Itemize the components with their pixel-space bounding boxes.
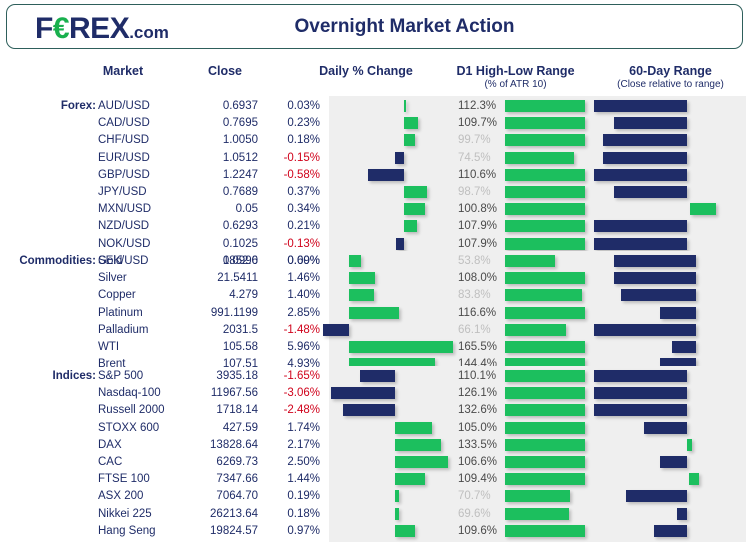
bar-d1-range [505,220,585,232]
row-d1-label: 105.0% [458,421,504,435]
bar-daily-change [395,525,415,537]
bar-d1-range [505,272,585,284]
bar-d1-range [505,456,585,468]
row-close-value: 2031.5 [168,323,258,337]
bar-60day-range [594,370,687,382]
column-subheader-d1-range: (% of ATR 10) [443,79,588,90]
column-header-60day-range: 60-Day Range [598,64,743,78]
row-d1-label: 133.5% [458,438,504,452]
row-close-value: 1852.6 [168,254,258,268]
panel-daily-change-0 [329,96,459,272]
row-d1-label: 107.9% [458,237,504,251]
row-change-value: -1.65% [250,369,320,383]
bar-60day-range [689,473,699,485]
bar-60day-range [660,307,696,319]
column-header-d1-range: D1 High-Low Range [443,64,588,78]
row-close-value: 6269.73 [168,455,258,469]
row-change-value: -3.06% [250,386,320,400]
row-d1-label: 110.6% [458,168,504,182]
header-bar: F€REX.com Overnight Market Action [6,4,743,49]
bar-daily-change [349,272,375,284]
bar-d1-range [505,370,585,382]
bar-d1-range [505,404,585,416]
group-label-forex: Forex: [10,99,96,113]
row-d1-label: 126.1% [458,386,504,400]
row-close-value: 1718.14 [168,403,258,417]
bar-daily-change [349,289,374,301]
row-change-value: 1.46% [250,271,320,285]
bar-d1-range [505,341,585,353]
row-market-name: Palladium [98,323,149,337]
row-market-name: S&P 500 [98,369,143,383]
bar-d1-range [505,238,585,250]
row-change-value: 2.85% [250,306,320,320]
row-market-name: Gold [98,254,122,268]
row-market-name: Russell 2000 [98,403,164,417]
row-close-value: 4.279 [168,288,258,302]
bar-d1-range [505,490,570,502]
bar-d1-range [505,186,585,198]
row-close-value: 427.59 [168,421,258,435]
row-market-name: ASX 200 [98,489,143,503]
row-close-value: 0.6937 [168,99,258,113]
row-close-value: 7347.66 [168,472,258,486]
row-d1-label: 110.1% [458,369,504,383]
row-market-name: FTSE 100 [98,472,150,486]
row-market-name: STOXX 600 [98,421,159,435]
column-header-close: Close [190,64,260,78]
row-change-value: 0.34% [250,202,320,216]
bar-d1-range [505,324,566,336]
row-change-value: 0.19% [250,489,320,503]
row-close-value: 11967.56 [168,386,258,400]
row-market-name: GBP/USD [98,168,150,182]
bar-60day-range [690,203,716,215]
bar-60day-range [614,272,697,284]
bar-60day-range [594,324,696,336]
row-close-value: 105.58 [168,340,258,354]
row-change-value: 1.74% [250,421,320,435]
row-d1-label: 108.0% [458,271,504,285]
row-close-value: 1.0050 [168,133,258,147]
row-d1-label: 99.7% [458,133,504,147]
row-change-value: -1.48% [250,323,320,337]
bar-60day-range [614,186,688,198]
row-change-value: -0.13% [250,237,320,251]
row-close-value: 13828.64 [168,438,258,452]
row-market-name: Hang Seng [98,524,156,538]
bar-60day-range [614,255,697,267]
row-market-name: JPY/USD [98,185,147,199]
bar-daily-change [349,255,361,267]
row-change-value: 0.21% [250,219,320,233]
row-d1-label: 98.7% [458,185,504,199]
bar-60day-range [626,490,688,502]
row-d1-label: 74.5% [458,151,504,165]
row-close-value: 0.05 [168,202,258,216]
bar-daily-change [404,186,427,198]
bar-60day-range [594,100,687,112]
row-d1-label: 109.7% [458,116,504,130]
row-d1-label: 109.6% [458,524,504,538]
bar-daily-change [404,203,425,215]
row-change-value: 0.69% [250,254,320,268]
bar-60day-range [687,439,692,451]
bar-daily-change [395,152,404,164]
row-market-name: Platinum [98,306,143,320]
row-market-name: AUD/USD [98,99,150,113]
row-d1-label: 66.1% [458,323,504,337]
row-market-name: CAC [98,455,122,469]
row-change-value: -2.48% [250,403,320,417]
row-d1-label: 53.8% [458,254,504,268]
row-market-name: WTI [98,340,119,354]
row-close-value: 21.5411 [168,271,258,285]
bar-daily-change [368,169,404,181]
bar-daily-change [395,490,399,502]
row-market-name: CHF/USD [98,133,149,147]
bar-daily-change [395,439,441,451]
row-market-name: EUR/USD [98,151,150,165]
bar-d1-range [505,307,585,319]
bar-60day-range [603,134,687,146]
bar-d1-range [505,255,555,267]
bar-d1-range [505,525,585,537]
row-d1-label: 107.9% [458,219,504,233]
row-close-value: 0.6293 [168,219,258,233]
bar-d1-range [505,508,569,520]
row-close-value: 0.1025 [168,237,258,251]
row-d1-label: 100.8% [458,202,504,216]
row-close-value: 3935.18 [168,369,258,383]
page-title: Overnight Market Action [7,16,742,38]
group-label-indices: Indices: [10,369,96,383]
row-close-value: 991.1199 [168,306,258,320]
row-market-name: Copper [98,288,136,302]
row-change-value: 1.44% [250,472,320,486]
row-change-value: 0.97% [250,524,320,538]
bar-d1-range [505,117,585,129]
row-market-name: Nikkei 225 [98,507,152,521]
bar-d1-range [505,439,585,451]
bar-d1-range [505,152,574,164]
bar-daily-change [404,220,417,232]
bar-daily-change [349,341,453,353]
row-close-value: 26213.64 [168,507,258,521]
row-change-value: 0.37% [250,185,320,199]
row-d1-label: 69.6% [458,507,504,521]
column-header-daily-change: Daily % Change [301,64,431,78]
bar-60day-range [672,341,696,353]
row-close-value: 7064.70 [168,489,258,503]
row-d1-label: 112.3% [458,99,504,113]
row-change-value: 0.18% [250,133,320,147]
row-change-value: 2.17% [250,438,320,452]
row-d1-label: 70.7% [458,489,504,503]
row-close-value: 0.7695 [168,116,258,130]
bar-d1-range [505,422,585,434]
row-change-value: 0.18% [250,507,320,521]
bar-daily-change [404,134,415,146]
row-d1-label: 83.8% [458,288,504,302]
row-d1-label: 109.4% [458,472,504,486]
row-market-name: Nasdaq-100 [98,386,161,400]
bar-60day-range [594,404,687,416]
bar-daily-change [396,238,404,250]
bar-d1-range [505,169,585,181]
row-d1-label: 116.6% [458,306,504,320]
row-market-name: MXN/USD [98,202,151,216]
row-close-value: 1.0512 [168,151,258,165]
bar-60day-range [603,152,687,164]
row-change-value: -0.15% [250,151,320,165]
bar-daily-change [360,370,395,382]
bar-d1-range [505,387,585,399]
bar-60day-range [594,220,687,232]
bar-d1-range [505,473,585,485]
row-change-value: 1.40% [250,288,320,302]
row-change-value: 0.23% [250,116,320,130]
row-market-name: Silver [98,271,127,285]
row-change-value: 5.96% [250,340,320,354]
bar-60day-range [594,169,687,181]
bar-daily-change [349,307,399,319]
row-market-name: NZD/USD [98,219,149,233]
bar-daily-change [404,100,406,112]
bar-daily-change [395,473,425,485]
bar-d1-range [505,289,582,301]
bar-daily-change [343,404,395,416]
bar-d1-range [505,134,585,146]
bar-60day-range [677,508,688,520]
column-subheader-60day: (Close relative to range) [593,79,748,90]
row-market-name: NOK/USD [98,237,150,251]
row-market-name: CAD/USD [98,116,150,130]
row-close-value: 1.2247 [168,168,258,182]
row-d1-label: 132.6% [458,403,504,417]
bar-daily-change [395,422,432,434]
row-market-name: DAX [98,438,122,452]
group-label-commodities: Commodities: [10,254,96,268]
bar-d1-range [505,203,585,215]
bar-60day-range [660,456,687,468]
column-header-market: Market [88,64,158,78]
row-change-value: 0.03% [250,99,320,113]
row-change-value: -0.58% [250,168,320,182]
row-change-value: 2.50% [250,455,320,469]
row-d1-label: 165.5% [458,340,504,354]
bar-60day-range [644,422,688,434]
bar-60day-range [654,525,687,537]
bar-daily-change [323,324,349,336]
row-d1-label: 106.6% [458,455,504,469]
row-close-value: 19824.57 [168,524,258,538]
bar-d1-range [505,100,585,112]
bar-60day-range [621,289,696,301]
bar-daily-change [395,508,399,520]
bar-daily-change [395,456,448,468]
bar-daily-change [404,117,418,129]
bar-60day-range [614,117,688,129]
row-close-value: 0.7689 [168,185,258,199]
bar-60day-range [594,387,687,399]
bar-daily-change [331,387,395,399]
bar-60day-range [594,238,687,250]
